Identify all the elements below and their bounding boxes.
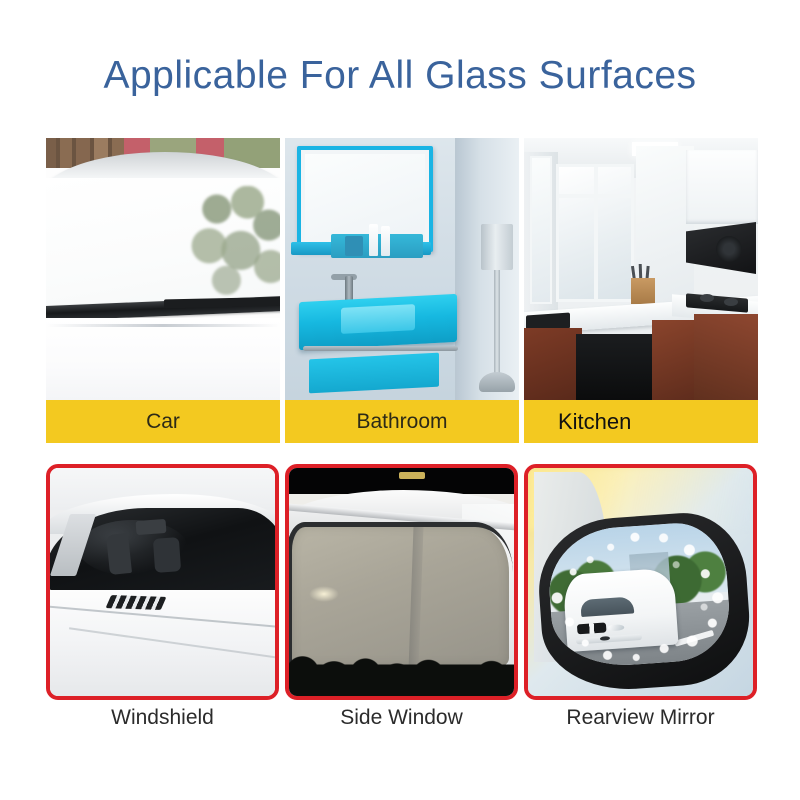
- interior-rearview-mirror: [136, 519, 167, 535]
- vehicle-photo-side-window: [285, 464, 518, 700]
- label-windshield: Windshield: [46, 706, 279, 738]
- label-side-window: Side Window: [285, 706, 518, 738]
- vehicle-photo-row: [46, 464, 758, 700]
- tree-reflection: [188, 186, 280, 301]
- kitchen-lower-cabinet-middle: [652, 320, 700, 400]
- cabin-seat-right: [153, 537, 181, 573]
- car-hood-crease: [46, 324, 280, 327]
- toiletry-bottle-right: [381, 226, 390, 256]
- kitchen-dark-appliance: [576, 334, 660, 400]
- reflected-white-car: [563, 568, 678, 653]
- kitchen-narrow-window: [530, 156, 552, 304]
- glass-basin-lower-shelf: [309, 353, 439, 394]
- window-mullion-horizontal: [556, 194, 634, 198]
- label-rearview-mirror: Rearview Mirror: [524, 706, 757, 738]
- toiletry-bottle-left: [369, 224, 378, 256]
- surfaces-photo-row: [46, 138, 758, 400]
- mirror-glass-surface: [545, 520, 732, 670]
- faucet-spout: [331, 274, 357, 280]
- wall-sconce: [481, 224, 513, 270]
- vehicle-photo-windshield: [46, 464, 279, 700]
- mirror-glass: [305, 154, 425, 244]
- toiletry-box: [345, 236, 363, 256]
- hood-vent: [106, 595, 167, 610]
- stove-burner-2: [724, 298, 738, 306]
- surface-caption-row: Car Bathroom Kitchen: [46, 400, 758, 443]
- car-hood-panel: [50, 590, 275, 698]
- caption-kitchen: Kitchen: [524, 400, 758, 443]
- surface-photo-bathroom: [285, 138, 519, 400]
- caption-bathroom: Bathroom: [285, 400, 519, 443]
- surface-photo-kitchen: [524, 138, 758, 400]
- stove-burner-1: [700, 294, 714, 302]
- reflected-car-grille: [577, 623, 606, 635]
- cabin-seat-left: [106, 533, 132, 575]
- bush-silhouette: [289, 638, 514, 696]
- car-hood: [46, 318, 280, 400]
- reflected-car-windshield: [580, 597, 634, 618]
- knife-block: [631, 278, 655, 304]
- surface-photo-car: [46, 138, 280, 400]
- floor-lamp-stem: [494, 270, 500, 376]
- reflected-car-headlight: [608, 624, 624, 631]
- range-hood-fan: [716, 236, 742, 262]
- faucet-body: [345, 276, 353, 302]
- vehicle-photo-rearview-mirror: [524, 464, 757, 700]
- towel-rail: [303, 346, 458, 351]
- page-title: Applicable For All Glass Surfaces: [0, 54, 800, 98]
- caption-car: Car: [46, 400, 280, 443]
- sun-glint: [399, 472, 425, 479]
- vehicle-label-row: Windshield Side Window Rearview Mirror: [46, 706, 758, 738]
- kitchen-lower-cabinet-right: [694, 314, 758, 400]
- product-infographic: Applicable For All Glass Surfaces: [0, 0, 800, 800]
- glass-basin-bowl: [341, 304, 415, 334]
- kitchen-lower-cabinet-left: [524, 328, 582, 400]
- floor-lamp-base: [479, 372, 515, 392]
- window-mullion-vertical: [594, 164, 598, 302]
- kitchen-upper-cabinet: [686, 150, 758, 224]
